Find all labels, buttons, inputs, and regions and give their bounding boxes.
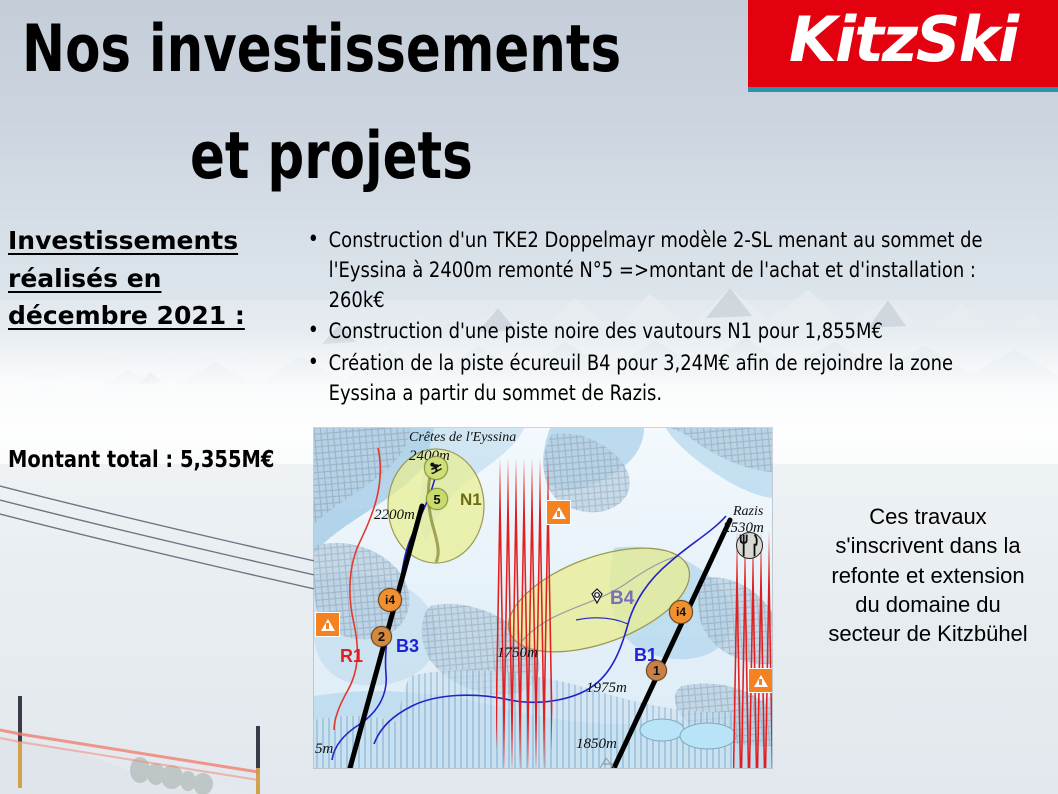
bullet-item: Construction d'un TKE2 Doppelmayr modèle…: [302, 226, 1005, 315]
bullet-item: Construction d'une piste noire des vauto…: [302, 317, 1005, 347]
map-label-1850m: 1850m: [576, 736, 617, 753]
survey-point-icon: [589, 588, 605, 604]
left-heading: Investissements réalisés en décembre 202…: [8, 222, 296, 335]
restaurant-icon: [736, 532, 763, 559]
map-marker-lift-2[interactable]: 2: [371, 626, 392, 647]
left-heading-line3: décembre 2021 :: [8, 301, 245, 330]
bullet-list: Construction d'un TKE2 Doppelmayr modèle…: [302, 226, 1042, 411]
map-label-cretes: Crêtes de l'Eyssina: [409, 430, 516, 446]
spellcheck-squiggle: [496, 445, 554, 768]
fork-knife-glyph: [737, 533, 762, 558]
map-label-1975m: 1975m: [586, 680, 627, 697]
total-amount: Montant total : 5,355M€: [8, 447, 274, 473]
side-note-line1: Ces travaux: [808, 502, 1048, 531]
bullet-item: Création de la piste écureuil B4 pour 3,…: [302, 349, 1005, 409]
logo-stripe: [748, 87, 1058, 92]
slide-canvas: KitzSki Nos investissements et projets I…: [0, 0, 1058, 794]
map-run-label-n1: N1: [460, 490, 482, 510]
kitzski-logo-text: KitzSki: [789, 9, 1017, 71]
side-note-line4: du domaine du: [808, 590, 1048, 619]
warning-triangle-icon: [315, 612, 340, 637]
map-marker-i4-right[interactable]: i4: [669, 600, 693, 624]
map-label-2200m: 2200m: [374, 507, 415, 524]
side-note: Ces travaux s'inscrivent dans la refonte…: [808, 502, 1048, 648]
left-heading-line2: réalisés en: [8, 264, 161, 293]
left-heading-line1: Investissements: [8, 226, 238, 255]
warning-triangle-icon: [546, 500, 571, 525]
map-marker-lift-1[interactable]: 1: [646, 660, 667, 681]
page-title-line2: et projets: [190, 124, 473, 189]
map-run-label-b4: B4: [610, 588, 634, 610]
piste-map[interactable]: Crêtes de l'Eyssina 2400m 2200m Razis 25…: [314, 428, 772, 768]
page-title-line1: Nos investissements: [22, 17, 621, 82]
map-label-1750m: 1750m: [497, 645, 538, 662]
map-marker-lift-chair[interactable]: ⛷: [424, 456, 448, 480]
side-note-line2: s'inscrivent dans la: [808, 531, 1048, 560]
map-marker-i4-left[interactable]: i4: [378, 588, 402, 612]
map-run-label-b3: B3: [396, 636, 419, 657]
map-run-label-r1: R1: [340, 646, 363, 667]
map-label-5m: 5m: [315, 741, 333, 758]
side-note-line5: secteur de Kitzbühel: [808, 619, 1048, 648]
side-note-line3: refonte et extension: [808, 561, 1048, 590]
warning-triangle-icon: [748, 668, 772, 693]
map-marker-lift-5[interactable]: 5: [426, 488, 448, 510]
kitzski-logo: KitzSki: [748, 0, 1058, 92]
